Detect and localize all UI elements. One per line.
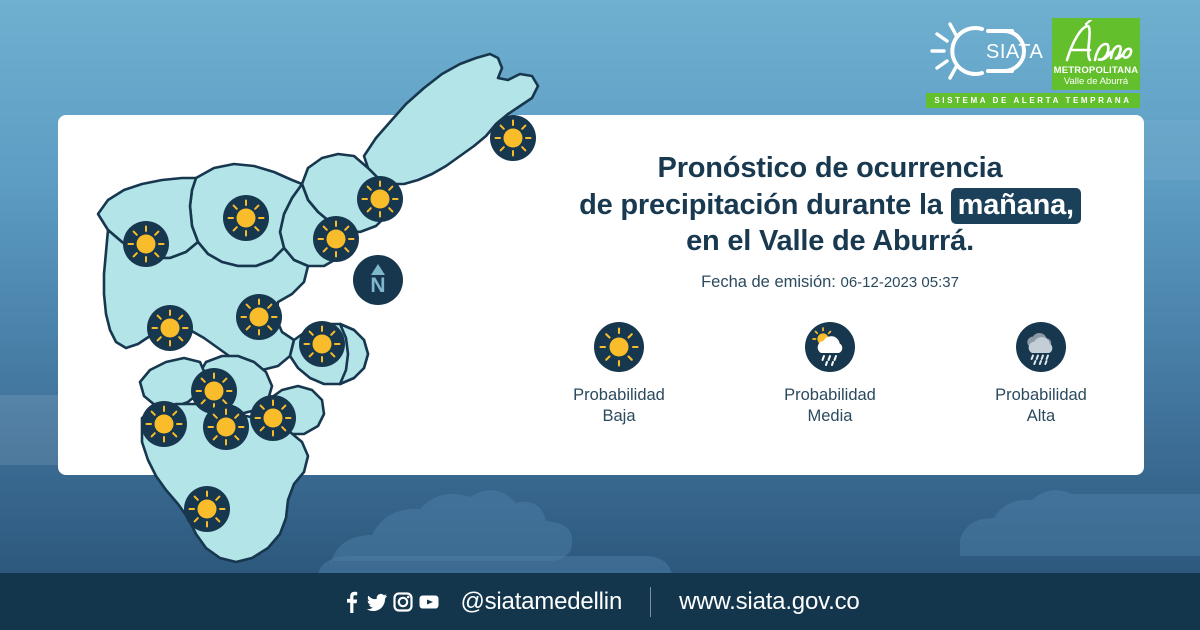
instagram-icon[interactable] [392, 590, 414, 614]
legend-item-alta: Probabilidad Alta [977, 322, 1105, 427]
map-station-baja [313, 216, 359, 262]
emission-date-row: Fecha de emisión: 06-12-2023 05:37 [520, 273, 1140, 292]
title-highlight-manana: mañana, [951, 188, 1081, 224]
social-handle[interactable]: @siatamedellin [460, 588, 622, 616]
svg-text:SIATA: SIATA [986, 41, 1043, 63]
legend-alta-line1: Probabilidad [995, 385, 1087, 406]
legend-item-media: Probabilidad Media [766, 322, 894, 427]
valle-de-aburra-map: N [46, 18, 566, 578]
emission-date-label: Fecha de emisión: [701, 273, 836, 291]
siata-sun-cloud-logo: SIATA [926, 18, 1046, 84]
legend-alta-line2: Alta [995, 406, 1087, 427]
legend-baja-line1: Probabilidad [573, 385, 665, 406]
legend-item-baja: Probabilidad Baja [555, 322, 683, 427]
map-station-baja [203, 404, 249, 450]
legend-media-line2: Media [784, 406, 876, 427]
forecast-panel: Pronóstico de ocurrencia de precipitació… [520, 150, 1140, 427]
logo-group: SIATA METROPOLITANA Valle de Aburrá SIST… [926, 18, 1140, 108]
emission-date-value: 06-12-2023 05:37 [840, 274, 958, 291]
sun-cloud-rain-icon [805, 322, 855, 372]
website-url[interactable]: www.siata.gov.co [679, 588, 859, 616]
logo-row: SIATA METROPOLITANA Valle de Aburrá [926, 18, 1140, 90]
map-station-baja [250, 395, 296, 441]
sun-icon [594, 322, 644, 372]
footer-divider [650, 587, 651, 617]
map-station-baja [236, 294, 282, 340]
footer-content: @siatamedellin www.siata.gov.co [340, 587, 859, 617]
map-station-baja [184, 486, 230, 532]
facebook-icon[interactable] [340, 590, 362, 614]
map-station-baja [299, 321, 345, 367]
title-line-1: Pronóstico de ocurrencia [520, 150, 1140, 187]
siata-tagline: SISTEMA DE ALERTA TEMPRANA [926, 93, 1140, 108]
area-logo-line1: METROPOLITANA [1054, 66, 1139, 76]
compass-north-indicator: N [353, 255, 403, 305]
cloud-heavy-rain-icon [1016, 322, 1066, 372]
map-station-baja [223, 195, 269, 241]
legend-label-alta: Probabilidad Alta [995, 385, 1087, 427]
page-title: Pronóstico de ocurrencia de precipitació… [520, 150, 1140, 260]
legend-label-media: Probabilidad Media [784, 385, 876, 427]
map-station-baja [141, 401, 187, 447]
title-line-3: en el Valle de Aburrá. [520, 223, 1140, 260]
title-line-2-text: de precipitación durante la [579, 189, 943, 221]
map-station-baja [123, 221, 169, 267]
map-station-baja [147, 305, 193, 351]
legend-baja-line2: Baja [573, 406, 665, 427]
area-script-mark [1057, 20, 1135, 66]
area-metropolitana-logo: METROPOLITANA Valle de Aburrá [1052, 18, 1140, 90]
footer-bar: @siatamedellin www.siata.gov.co [0, 573, 1200, 630]
youtube-icon[interactable] [418, 590, 440, 614]
map-station-baja [357, 176, 403, 222]
twitter-icon[interactable] [366, 590, 388, 614]
area-logo-line2: Valle de Aburrá [1064, 76, 1128, 88]
title-line-2: de precipitación durante la mañana, [520, 187, 1140, 224]
legend-label-baja: Probabilidad Baja [573, 385, 665, 427]
probability-legend: Probabilidad Baja [520, 322, 1140, 427]
compass-label: N [370, 274, 385, 297]
legend-media-line1: Probabilidad [784, 385, 876, 406]
